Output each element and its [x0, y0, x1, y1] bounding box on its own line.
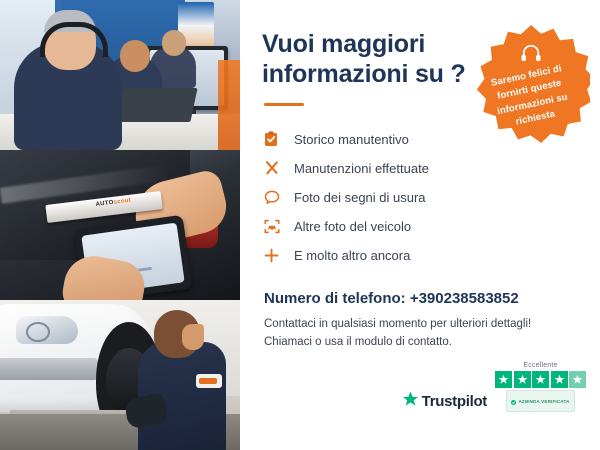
callout-badge: Saremo felici di fornirti queste informa… [472, 25, 590, 143]
star-3 [532, 371, 549, 388]
headlight [16, 316, 78, 344]
verified-label: AZIENDA VERIFICATA [518, 399, 569, 404]
contact-line-2: Chiamaci o usa il modulo di contatto. [264, 334, 574, 352]
page-title: Vuoi maggiori informazioni su ? [262, 30, 472, 89]
call-center-agents-photo [0, 0, 240, 150]
front-grille [0, 358, 98, 380]
star-5 [569, 371, 586, 388]
title-divider [264, 103, 304, 106]
strip-brand: AUTOscout [95, 198, 131, 208]
star-rating [495, 371, 586, 388]
feature-item-altro-ancora: E molto altro ancora [264, 242, 574, 268]
star-4 [551, 371, 568, 388]
rating-label: Eccellente [523, 362, 557, 369]
mechanic-wheel-inspection-photo [0, 300, 240, 450]
speech-bubble-icon [264, 190, 288, 205]
advertisement-banner: AUTOscout Vuoi maggiori informazioni su … [0, 0, 600, 450]
contact-line-1: Contattaci in qualsiasi momento per ulte… [264, 316, 574, 334]
trustpilot-rating[interactable]: Trustpilot Eccellente [402, 362, 586, 412]
trustpilot-logo: Trustpilot [402, 391, 487, 412]
plus-icon [264, 248, 288, 263]
feature-label: Foto dei segni di usura [294, 190, 426, 205]
car-focus-icon [264, 219, 288, 234]
trustpilot-star-icon [402, 391, 419, 412]
trustpilot-score: Eccellente [495, 362, 586, 412]
content-panel: Vuoi maggiori informazioni su ? Saremo f… [240, 0, 600, 450]
feature-label: Altre foto del veicolo [294, 219, 411, 234]
feature-label: E molto altro ancora [294, 248, 410, 263]
star-2 [514, 371, 531, 388]
feature-label: Storico manutentivo [294, 132, 409, 147]
paint-gauge-inspection-photo: AUTOscout [0, 150, 240, 300]
mechanic-face [182, 324, 204, 350]
contact-instructions: Contattaci in qualsiasi momento per ulte… [264, 316, 574, 352]
feature-item-altre-foto: Altre foto del veicolo [264, 213, 574, 239]
photo-column: AUTOscout [0, 0, 240, 450]
background-worker-2-head [162, 30, 186, 56]
verified-business-badge: AZIENDA VERIFICATA [506, 390, 574, 412]
headset-icon [520, 43, 542, 68]
tools-cross-icon [264, 160, 288, 176]
verified-check-icon [511, 392, 516, 410]
clipboard-check-icon [264, 131, 288, 147]
background-worker-1-head [120, 40, 150, 72]
laptop [116, 88, 197, 122]
phone-number[interactable]: Numero di telefono: +390238583852 [264, 290, 574, 307]
feature-label: Manutenzioni effettuate [294, 161, 429, 176]
trustpilot-wordmark: Trustpilot [422, 393, 487, 410]
feature-item-manutenzioni: Manutenzioni effettuate [264, 155, 574, 181]
star-1 [495, 371, 512, 388]
orange-panel [218, 60, 240, 150]
feature-list: Storico manutentivo Manutenzioni effettu… [264, 126, 574, 268]
uniform-logo-patch [196, 374, 222, 388]
feature-item-foto-usura: Foto dei segni di usura [264, 184, 574, 210]
